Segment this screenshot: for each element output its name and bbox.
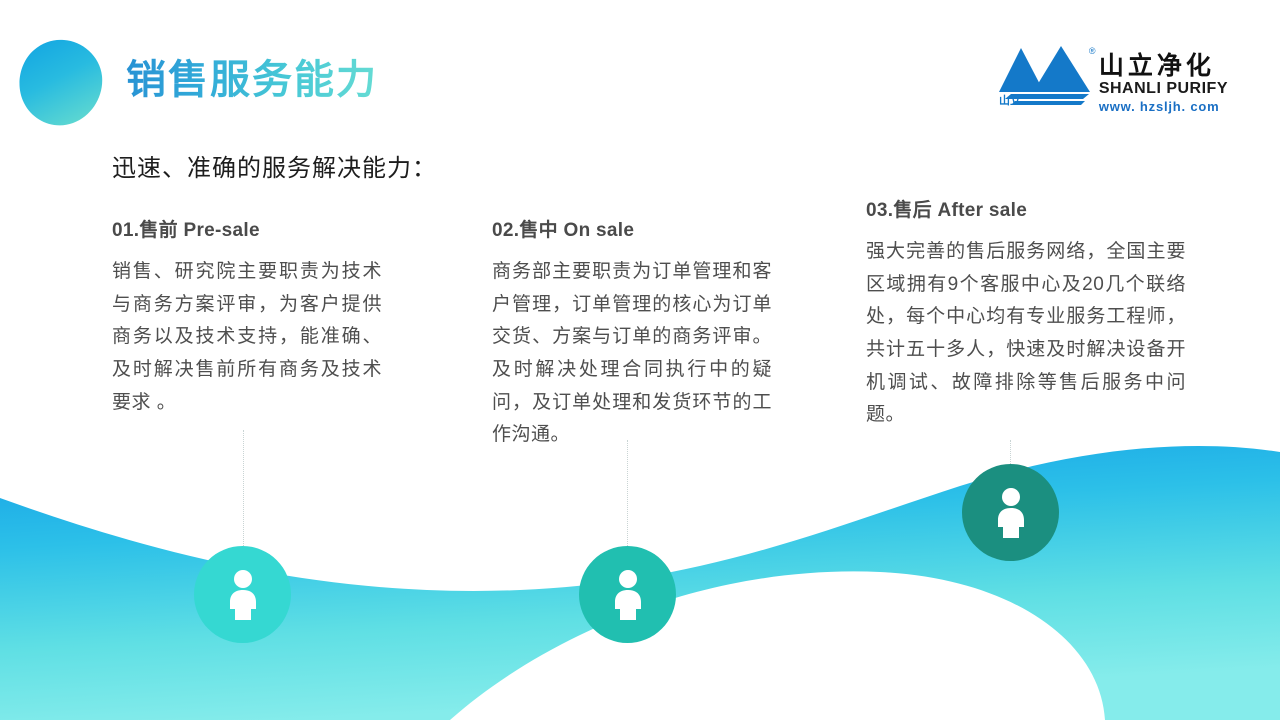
column-on-sale: 02.售中 On sale 商务部主要职责为订单管理和客户管理，订单管理的核心为… xyxy=(492,215,772,452)
connector-line-pre-sale xyxy=(243,430,244,550)
step-marker-pre-sale[interactable] xyxy=(194,546,291,643)
column-heading-after-sale: 03.售后 After sale xyxy=(866,195,1186,222)
person-icon xyxy=(222,568,264,622)
svg-text:山立: 山立 xyxy=(999,93,1021,106)
step-marker-on-sale[interactable] xyxy=(579,546,676,643)
column-body-after-sale: 强大完善的售后服务网络，全国主要区域拥有9个客服中心及20几个联络处，每个中心均… xyxy=(866,236,1186,432)
person-icon xyxy=(990,486,1032,540)
company-logo: 山立 ® 山立净化 SHANLI PURIFY www. hzsljh. com xyxy=(997,44,1228,115)
column-body-on-sale: 商务部主要职责为订单管理和客户管理，订单管理的核心为订单交货、方案与订单的商务评… xyxy=(492,256,772,452)
connector-line-on-sale xyxy=(627,440,628,550)
decor-blob-icon xyxy=(18,38,104,126)
slide-canvas: 销售服务能力 山立 ® 山立净化 SHANLI PURIFY www. hzsl… xyxy=(0,0,1280,720)
column-heading-on-sale: 02.售中 On sale xyxy=(492,215,772,242)
logo-name-cn: 山立净化 xyxy=(1099,54,1228,79)
page-title: 销售服务能力 xyxy=(126,57,378,103)
section-subtitle: 迅速、准确的服务解决能力： xyxy=(112,148,437,183)
mountain-triangles-logo-icon: 山立 ® xyxy=(997,44,1093,106)
column-heading-pre-sale: 01.售前 Pre-sale xyxy=(112,215,382,242)
logo-website-url: www. hzsljh. com xyxy=(1099,99,1228,115)
column-after-sale: 03.售后 After sale 强大完善的售后服务网络，全国主要区域拥有9个客… xyxy=(866,195,1186,432)
registered-trademark-icon: ® xyxy=(1089,46,1096,56)
column-pre-sale: 01.售前 Pre-sale 销售、研究院主要职责为技术与商务方案评审，为客户提… xyxy=(112,215,382,419)
logo-name-en: SHANLI PURIFY xyxy=(1099,79,1228,99)
step-marker-after-sale[interactable] xyxy=(962,464,1059,561)
column-body-pre-sale: 销售、研究院主要职责为技术与商务方案评审，为客户提供商务以及技术支持，能准确、及… xyxy=(112,256,382,419)
person-icon xyxy=(607,568,649,622)
logo-text-block: 山立净化 SHANLI PURIFY www. hzsljh. com xyxy=(1099,44,1228,115)
